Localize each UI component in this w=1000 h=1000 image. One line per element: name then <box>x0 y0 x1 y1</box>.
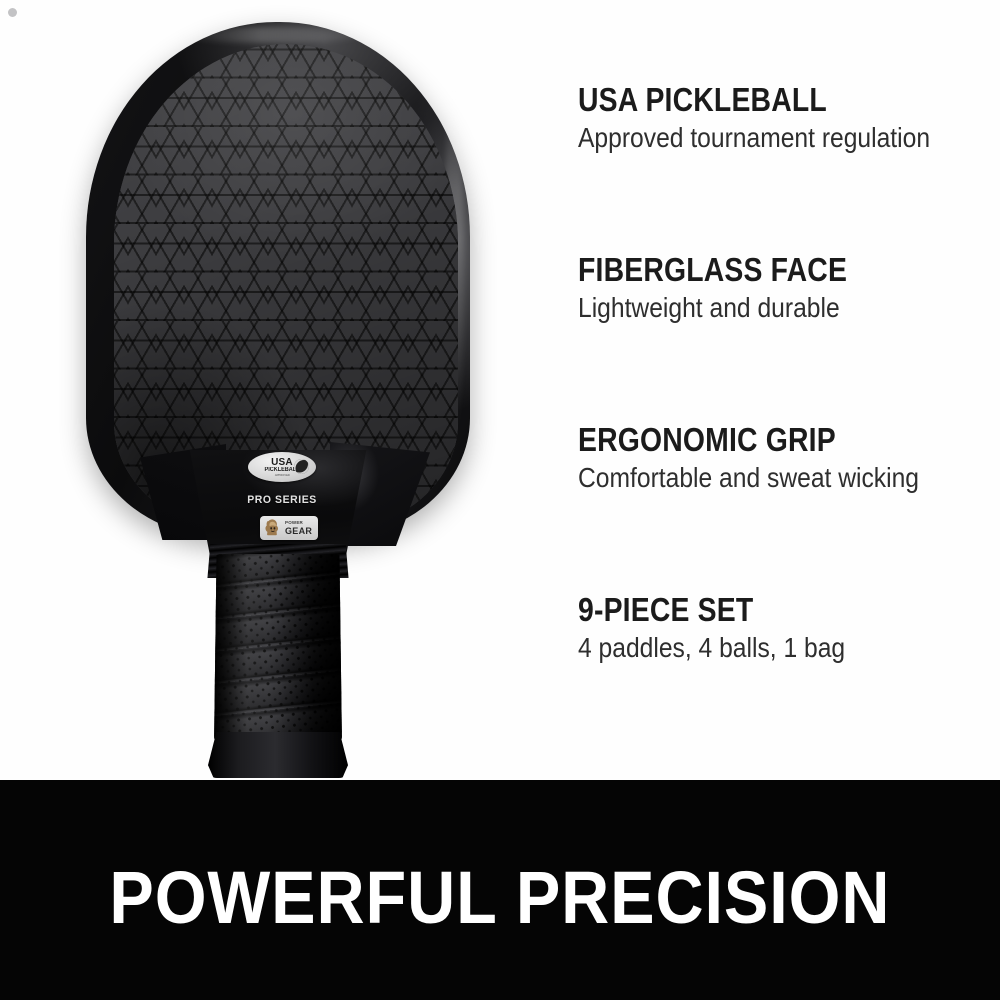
feature-item-ergonomic-grip: ERGONOMIC GRIP Comfortable and sweat wic… <box>578 422 978 592</box>
feature-item-usa-pickleball: USA PICKLEBALL Approved tournament regul… <box>578 82 978 252</box>
grip-shading <box>214 554 342 746</box>
paddle-product-image: USA PICKLEBALL APPROVED PRO SERIES POWER… <box>78 14 478 784</box>
feature-title: FIBERGLASS FACE <box>578 252 922 288</box>
feature-description: Lightweight and durable <box>578 291 930 325</box>
feature-title: 9-PIECE SET <box>578 592 922 628</box>
pro-series-label: PRO SERIES <box>238 491 325 509</box>
feature-title: ERGONOMIC GRIP <box>578 422 922 458</box>
feature-description: Approved tournament regulation <box>578 121 930 155</box>
grip-butt-cap <box>208 732 348 778</box>
feature-list: USA PICKLEBALL Approved tournament regul… <box>578 82 978 762</box>
stray-dot-artifact <box>8 8 17 17</box>
feature-title: USA PICKLEBALL <box>578 82 922 118</box>
usap-badge-line1: USA <box>271 458 293 467</box>
brand-main-word: GEAR <box>285 526 312 536</box>
infographic-stage: USA PICKLEBALL APPROVED PRO SERIES POWER… <box>0 0 1000 1000</box>
brand-logo-badge: POWER GEAR <box>260 516 318 540</box>
usap-badge-line3: APPROVED <box>274 473 289 477</box>
gorilla-icon <box>262 518 284 538</box>
banner-headline: POWERFUL PRECISION <box>110 859 891 937</box>
feature-item-fiberglass-face: FIBERGLASS FACE Lightweight and durable <box>578 252 978 422</box>
pickleball-ball-icon <box>294 459 309 474</box>
bottom-banner: POWERFUL PRECISION <box>0 780 1000 1000</box>
brand-wordmark: POWER GEAR <box>285 520 312 536</box>
edge-guard-top-highlight <box>176 27 366 43</box>
paddle-grip <box>214 554 342 746</box>
feature-item-nine-piece-set: 9-PIECE SET 4 paddles, 4 balls, 1 bag <box>578 592 978 762</box>
usa-pickleball-badge-icon: USA PICKLEBALL APPROVED <box>248 452 316 482</box>
feature-description: Comfortable and sweat wicking <box>578 461 930 495</box>
feature-description: 4 paddles, 4 balls, 1 bag <box>578 631 930 665</box>
